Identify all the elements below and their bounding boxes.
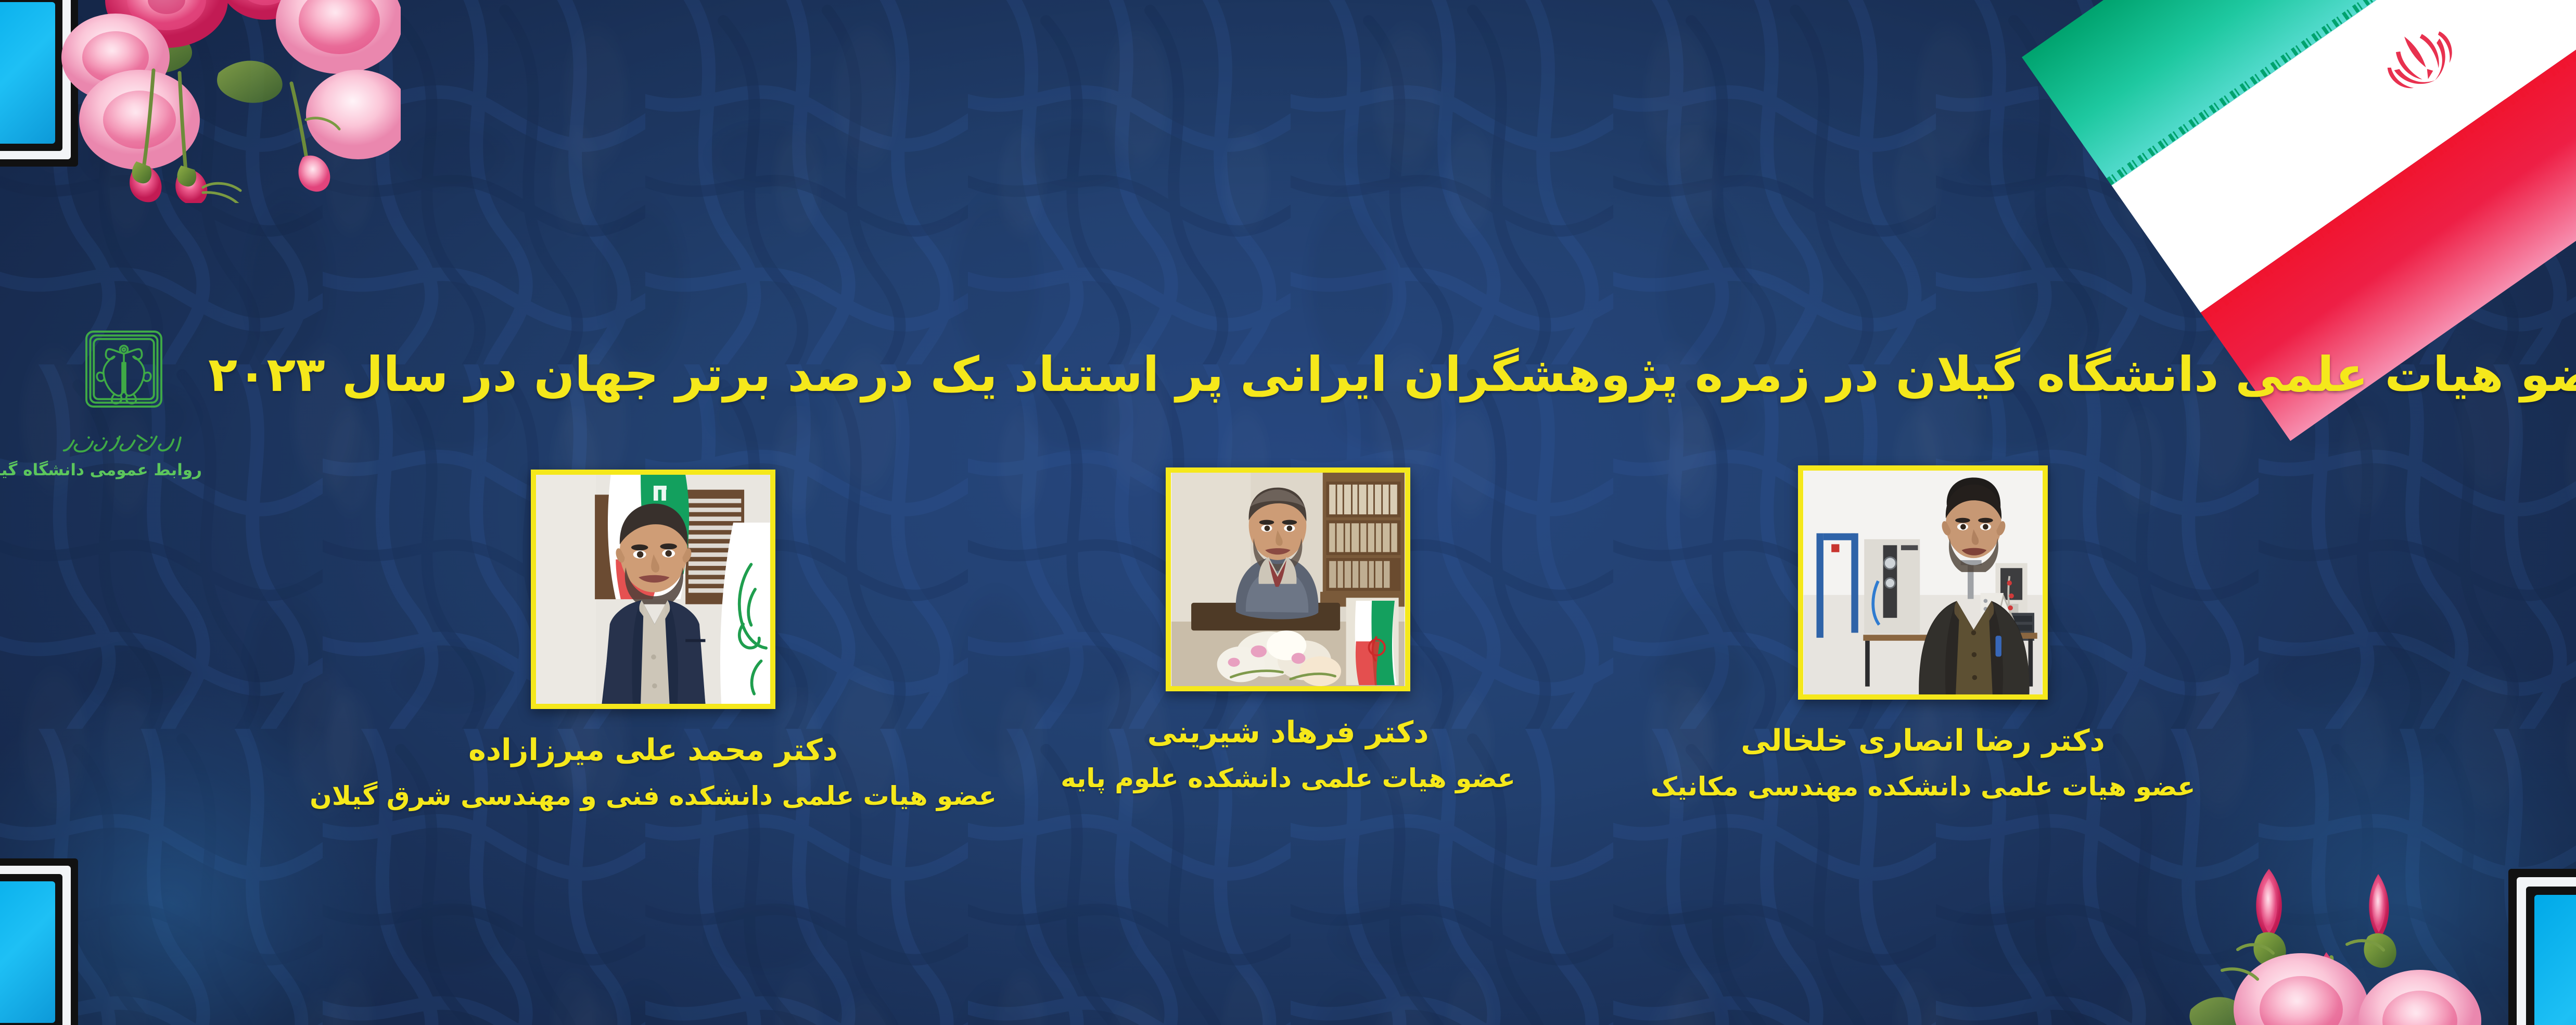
researcher-card: دکتر محمد علی میرزازاده عضو هیات علمی دا… xyxy=(450,470,856,811)
researcher-role: عضو هیات علمی دانشکده فنی و مهندسی شرق گ… xyxy=(310,781,997,811)
researchers-row: دکتر محمد علی میرزازاده عضو هیات علمی دا… xyxy=(0,458,2576,984)
university-logo-wordmark-icon xyxy=(59,432,188,455)
researcher-role: عضو هیات علمی دانشکده علوم پایه xyxy=(1061,763,1515,793)
researcher-card: دکتر فرهاد شیرینی عضو هیات علمی دانشکده … xyxy=(1085,467,1491,793)
university-gilan-logo-icon xyxy=(77,327,171,428)
corner-frame-top-left xyxy=(0,0,78,167)
researcher-photo xyxy=(1171,473,1405,686)
researcher-name: دکتر محمد علی میرزازاده xyxy=(468,733,838,767)
poster-banner: روابط عمومی دانشگاه گیلان قرار گرفتن سه … xyxy=(0,0,2576,1025)
university-brand: روابط عمومی دانشگاه گیلان xyxy=(46,327,202,479)
researcher-photo xyxy=(536,475,770,704)
researcher-photo xyxy=(1803,471,2043,694)
researcher-photo-frame xyxy=(1798,465,2048,700)
researcher-role: عضو هیات علمی دانشکده مهندسی مکانیک xyxy=(1651,771,2196,802)
researcher-photo-frame xyxy=(1166,467,1410,691)
researcher-photo-frame xyxy=(531,470,775,709)
researcher-card: دکتر رضا انصاری خلخالی عضو هیات علمی دان… xyxy=(1720,465,2126,802)
headline-text: قرار گرفتن سه عضو هیات علمی دانشگاه گیلا… xyxy=(208,349,2576,400)
headline: قرار گرفتن سه عضو هیات علمی دانشگاه گیلا… xyxy=(208,341,2420,409)
researcher-name: دکتر رضا انصاری خلخالی xyxy=(1741,724,2105,758)
researcher-name: دکتر فرهاد شیرینی xyxy=(1147,715,1429,750)
